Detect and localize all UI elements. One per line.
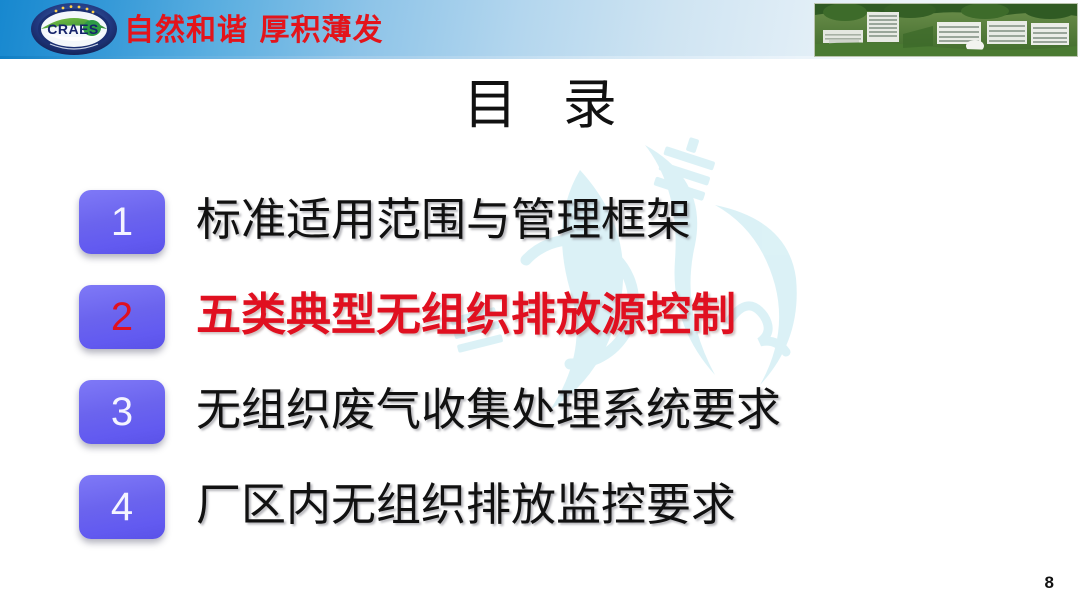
page-title: 目 录: [0, 74, 1080, 136]
toc-item-label: 无组织废气收集处理系统要求: [196, 376, 781, 444]
toc-badge-number: 1: [111, 202, 133, 242]
toc-badge-number: 4: [111, 487, 133, 527]
header-motto: 自然和谐 厚积薄发: [124, 12, 383, 50]
toc-item-3[interactable]: 3 无组织废气收集处理系统要求: [0, 376, 1080, 471]
toc-item-2[interactable]: 2 五类典型无组织排放源控制: [0, 281, 1080, 376]
toc-item-label: 标准适用范围与管理框架: [196, 186, 691, 254]
toc-badge-number: 2: [111, 297, 133, 337]
toc-badge-number: 3: [111, 392, 133, 432]
toc-badge-2[interactable]: 2: [79, 285, 165, 349]
toc-list: 1 标准适用范围与管理框架 2 五类典型无组织排放源控制 3 无组织废气收集处理…: [0, 186, 1080, 566]
toc-badge-1[interactable]: 1: [79, 190, 165, 254]
svg-text:CRAES: CRAES: [47, 21, 99, 37]
toc-badge-4[interactable]: 4: [79, 475, 165, 539]
toc-item-label: 厂区内无组织排放监控要求: [196, 471, 736, 539]
campus-photo: [814, 3, 1078, 57]
toc-item-label: 五类典型无组织排放源控制: [196, 281, 736, 349]
craes-logo-icon: CRAES: [30, 2, 118, 56]
slide: CRAES 自然和谐 厚积薄发: [0, 0, 1080, 607]
toc-item-4[interactable]: 4 厂区内无组织排放监控要求: [0, 471, 1080, 566]
toc-item-1[interactable]: 1 标准适用范围与管理框架: [0, 186, 1080, 281]
page-number: 8: [1045, 573, 1054, 593]
toc-badge-3[interactable]: 3: [79, 380, 165, 444]
